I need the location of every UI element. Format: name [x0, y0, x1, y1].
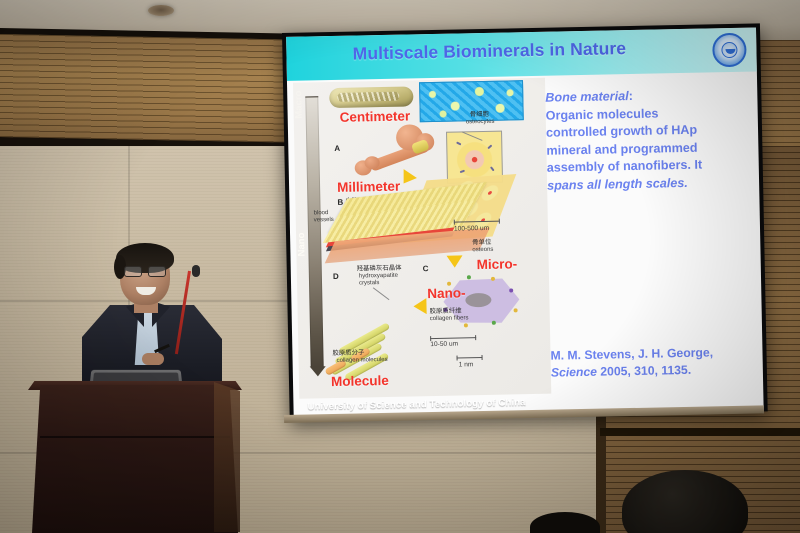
- scale-bar-1nm: [457, 357, 483, 359]
- ustc-seal-logo: [712, 33, 747, 68]
- slide-title-bar: Multiscale Biominerals in Nature: [286, 27, 757, 80]
- citation-journal: Science: [551, 364, 597, 379]
- heading-colon: :: [628, 89, 632, 103]
- leader-line: [373, 287, 390, 300]
- annotation-collagen-fibers-en: collagen fibers: [430, 315, 469, 323]
- microphone-head: [192, 265, 200, 277]
- bone-material-text: Bone material: Organic molecules control…: [545, 86, 753, 196]
- citation-authors: M. M. Stevens, J. H. George,: [550, 345, 713, 362]
- arrow-down: [447, 255, 463, 267]
- body-line-1: Organic molecules: [546, 106, 659, 122]
- annotation-osteocytes-cn: 骨细胞: [470, 111, 489, 119]
- annotation-hap-crystals-cn: 羟基磷灰石晶体: [357, 265, 402, 273]
- body-line-3: mineral and programmed: [546, 140, 697, 157]
- presentation-slide: Multiscale Biominerals in Nature Macro N…: [286, 27, 764, 416]
- femur-illustration: [354, 124, 451, 176]
- panel-marker-a: A: [334, 144, 340, 153]
- body-line-4: assembly of nanofibers. It: [547, 158, 703, 175]
- body-line-2: controlled growth of HAp: [546, 123, 697, 140]
- lamellar-bone-block: [333, 189, 494, 256]
- podium-panel-line: [40, 436, 230, 438]
- bone-specimen-photo: [329, 86, 413, 108]
- body-line-5: spans all length scales.: [547, 176, 688, 193]
- presenter: [78, 243, 222, 403]
- ceiling-downlight: [148, 5, 174, 16]
- slide-title: Multiscale Biominerals in Nature: [324, 38, 654, 66]
- multiscale-bone-diagram: Macro Nano Centimeter A 骨细胞 osteocyt: [293, 78, 551, 399]
- annotation-collagen-fibers-cn: 胶原质纤维: [430, 307, 462, 315]
- scale-label-nano: Nano-: [427, 285, 466, 301]
- bone-cell-illustration: [437, 270, 526, 334]
- right-wood-panel-upper: [756, 40, 800, 150]
- annotation-osteocytes-en: osteocytes: [466, 119, 495, 127]
- annotation-hap-crystals-en: hydroxyapatite crystals: [359, 272, 411, 288]
- wooden-podium: [32, 385, 238, 533]
- presenter-hand: [142, 353, 164, 365]
- scale-bar-label-10-50um: 10-50 um: [430, 341, 458, 349]
- scale-label-molecule: Molecule: [331, 373, 389, 389]
- annotation-collagen-molecules-en: collagen molecules: [337, 357, 388, 365]
- projection-screen: Multiscale Biominerals in Nature Macro N…: [282, 23, 768, 421]
- bone-material-heading: Bone material: [545, 89, 629, 105]
- scale-bar-label-1nm: 1 nm: [459, 361, 474, 369]
- axis-label-macro: Macro: [293, 91, 307, 119]
- scale-label-centimeter: Centimeter: [340, 108, 411, 124]
- scale-bar-label-100-500um: 100-500 um: [454, 225, 489, 233]
- panel-marker-d: D: [333, 272, 339, 281]
- annotation-collagen-molecules-cn: 胶原质分子: [332, 349, 364, 357]
- panel-marker-c: C: [423, 264, 429, 273]
- axis-label-nano: Nano: [296, 232, 309, 256]
- scale-bar-10-50um: [430, 337, 476, 339]
- slide-citation: M. M. Stevens, J. H. George, Science 200…: [550, 344, 757, 381]
- annotation-osteons-en: osteons: [472, 247, 493, 255]
- podium-side-rail: [214, 382, 240, 532]
- lecture-hall-photo: Multiscale Biominerals in Nature Macro N…: [0, 0, 800, 533]
- annotation-osteons-cn: 骨单位: [472, 239, 491, 247]
- citation-details: 2005, 310, 1135.: [597, 362, 691, 378]
- wall-shadow-gap: [600, 428, 800, 436]
- arrow-left: [413, 298, 426, 314]
- eyeglasses-icon: [124, 266, 166, 275]
